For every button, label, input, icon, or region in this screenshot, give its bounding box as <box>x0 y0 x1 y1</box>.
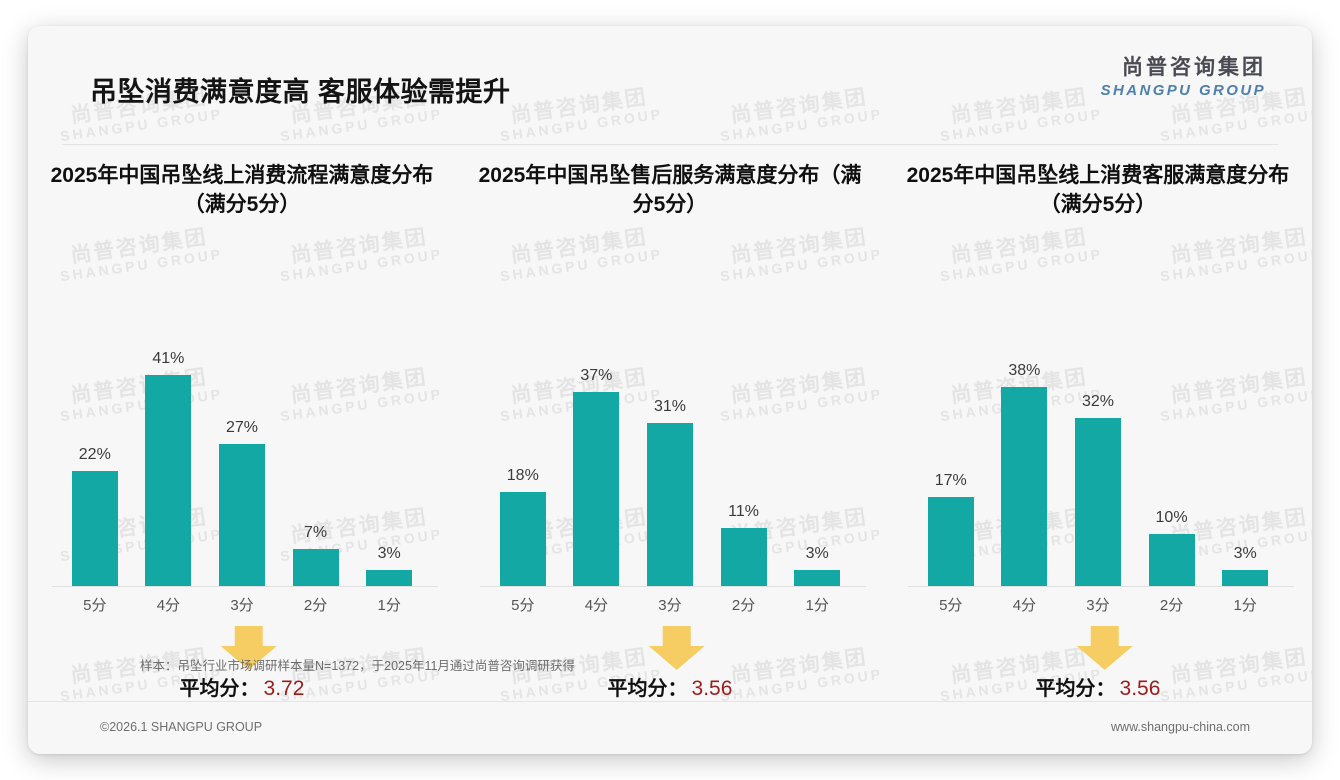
bar-value-label: 37% <box>580 367 612 385</box>
bar-rect[interactable] <box>1222 570 1268 586</box>
bar-value-label: 31% <box>654 398 686 416</box>
bar-value-label: 27% <box>226 419 258 437</box>
bar-item[interactable]: 37% <box>560 350 634 586</box>
chart-panel-1: 2025年中国吊坠线上消费流程满意度分布（满分5分）22%41%27%7%3%5… <box>28 162 456 720</box>
bar-item[interactable]: 17% <box>914 350 988 586</box>
bar-value-label: 18% <box>507 467 539 485</box>
bar-rect[interactable] <box>928 497 974 586</box>
bar-rect[interactable] <box>794 570 840 586</box>
bar-item[interactable]: 7% <box>279 350 353 586</box>
bar-group: 18%37%31%11%3% <box>486 350 854 586</box>
copyright-text: ©2026.1 SHANGPU GROUP <box>100 720 262 734</box>
bar-rect[interactable] <box>721 528 767 586</box>
down-arrow-icon <box>649 626 705 670</box>
arrow-stem <box>1091 626 1119 647</box>
down-arrow-icon <box>1077 626 1133 670</box>
website-link[interactable]: www.shangpu-china.com <box>1111 720 1250 734</box>
bar-rect[interactable] <box>1075 418 1121 586</box>
chart-panel-2: 2025年中国吊坠售后服务满意度分布（满分5分）18%37%31%11%3%5分… <box>456 162 884 720</box>
bar-item[interactable]: 32% <box>1061 350 1135 586</box>
x-tick-label: 5分 <box>58 594 132 615</box>
bar-value-label: 22% <box>79 446 111 464</box>
bar-item[interactable]: 31% <box>633 350 707 586</box>
x-tick-label: 2分 <box>707 594 781 615</box>
arrow-stem <box>663 626 691 647</box>
brand-logo: 尚普咨询集团 SHANGPU GROUP <box>1101 56 1266 99</box>
bar-value-label: 3% <box>806 545 829 563</box>
slide-card: 尚普咨询集团SHANGPU GROUP尚普咨询集团SHANGPU GROUP尚普… <box>28 26 1312 754</box>
bar-value-label: 41% <box>152 350 184 368</box>
x-tick-label: 5分 <box>914 594 988 615</box>
bar-item[interactable]: 11% <box>707 350 781 586</box>
x-axis-ticks: 5分4分3分2分1分 <box>58 590 426 618</box>
chart-title: 2025年中国吊坠线上消费客服满意度分布（满分5分） <box>896 162 1300 234</box>
chart-plot-area: 17%38%32%10%3%5分4分3分2分1分 <box>896 308 1300 618</box>
arrow-stem <box>235 626 263 647</box>
x-tick-label: 1分 <box>1208 594 1282 615</box>
x-tick-label: 3分 <box>633 594 707 615</box>
chart-panel-3: 2025年中国吊坠线上消费客服满意度分布（满分5分）17%38%32%10%3%… <box>884 162 1312 720</box>
average-score-label: 平均分： <box>1036 678 1116 700</box>
bar-item[interactable]: 22% <box>58 350 132 586</box>
bar-value-label: 32% <box>1082 393 1114 411</box>
bar-item[interactable]: 41% <box>132 350 206 586</box>
header-divider <box>62 144 1278 145</box>
x-tick-label: 2分 <box>279 594 353 615</box>
bar-item[interactable]: 10% <box>1135 350 1209 586</box>
average-score-text: 平均分：3.72 <box>180 672 305 701</box>
bar-rect[interactable] <box>219 444 265 586</box>
chart-plot-area: 18%37%31%11%3%5分4分3分2分1分 <box>468 308 872 618</box>
bar-rect[interactable] <box>366 570 412 586</box>
x-tick-label: 2分 <box>1135 594 1209 615</box>
chart-title: 2025年中国吊坠售后服务满意度分布（满分5分） <box>468 162 872 234</box>
x-tick-label: 1分 <box>780 594 854 615</box>
arrow-head <box>1077 646 1133 670</box>
average-score-text: 平均分：3.56 <box>1036 672 1161 701</box>
x-tick-label: 4分 <box>132 594 206 615</box>
x-tick-label: 4分 <box>988 594 1062 615</box>
average-score-value: 3.72 <box>264 677 305 700</box>
bar-item[interactable]: 27% <box>205 350 279 586</box>
x-axis-line <box>52 586 438 587</box>
slide-footer: ©2026.1 SHANGPU GROUP www.shangpu-china.… <box>28 702 1312 754</box>
sample-note: 样本：吊坠行业市场调研样本量N=1372，于2025年11月通过尚普咨询调研获得 <box>140 655 575 674</box>
chart-title: 2025年中国吊坠线上消费流程满意度分布（满分5分） <box>40 162 444 234</box>
chart-plot-area: 22%41%27%7%3%5分4分3分2分1分 <box>40 308 444 618</box>
x-axis-ticks: 5分4分3分2分1分 <box>486 590 854 618</box>
bar-rect[interactable] <box>573 392 619 586</box>
x-axis-line <box>908 586 1294 587</box>
bar-item[interactable]: 3% <box>352 350 426 586</box>
bar-value-label: 7% <box>304 524 327 542</box>
x-axis-line <box>480 586 866 587</box>
bar-item[interactable]: 38% <box>988 350 1062 586</box>
bar-rect[interactable] <box>72 471 118 586</box>
bar-value-label: 38% <box>1008 362 1040 380</box>
average-score-value: 3.56 <box>1120 677 1161 700</box>
bar-value-label: 17% <box>935 472 967 490</box>
x-axis-ticks: 5分4分3分2分1分 <box>914 590 1282 618</box>
page-title: 吊坠消费满意度高 客服体验需提升 <box>90 70 511 109</box>
bar-item[interactable]: 18% <box>486 350 560 586</box>
logo-english-text: SHANGPU GROUP <box>1101 82 1266 99</box>
x-tick-label: 3分 <box>1061 594 1135 615</box>
bar-value-label: 11% <box>728 503 759 521</box>
average-score-label: 平均分： <box>180 678 260 700</box>
bar-rect[interactable] <box>293 549 339 586</box>
x-tick-label: 5分 <box>486 594 560 615</box>
slide-header: 吊坠消费满意度高 客服体验需提升 尚普咨询集团 SHANGPU GROUP <box>28 26 1312 116</box>
arrow-head <box>649 646 705 670</box>
x-tick-label: 1分 <box>352 594 426 615</box>
bar-value-label: 3% <box>1234 545 1257 563</box>
bar-group: 17%38%32%10%3% <box>914 350 1282 586</box>
bar-rect[interactable] <box>1001 387 1047 586</box>
average-score-label: 平均分： <box>608 678 688 700</box>
average-score-text: 平均分：3.56 <box>608 672 733 701</box>
average-score-value: 3.56 <box>692 677 733 700</box>
bar-rect[interactable] <box>500 492 546 586</box>
logo-chinese-text: 尚普咨询集团 <box>1101 56 1266 80</box>
bar-rect[interactable] <box>1149 534 1195 586</box>
bar-value-label: 10% <box>1156 509 1188 527</box>
x-tick-label: 4分 <box>560 594 634 615</box>
bar-item[interactable]: 3% <box>1208 350 1282 586</box>
bar-item[interactable]: 3% <box>780 350 854 586</box>
bar-group: 22%41%27%7%3% <box>58 350 426 586</box>
x-tick-label: 3分 <box>205 594 279 615</box>
charts-row: 2025年中国吊坠线上消费流程满意度分布（满分5分）22%41%27%7%3%5… <box>28 162 1312 720</box>
bar-rect[interactable] <box>145 375 191 586</box>
bar-rect[interactable] <box>647 423 693 586</box>
bar-value-label: 3% <box>378 545 401 563</box>
